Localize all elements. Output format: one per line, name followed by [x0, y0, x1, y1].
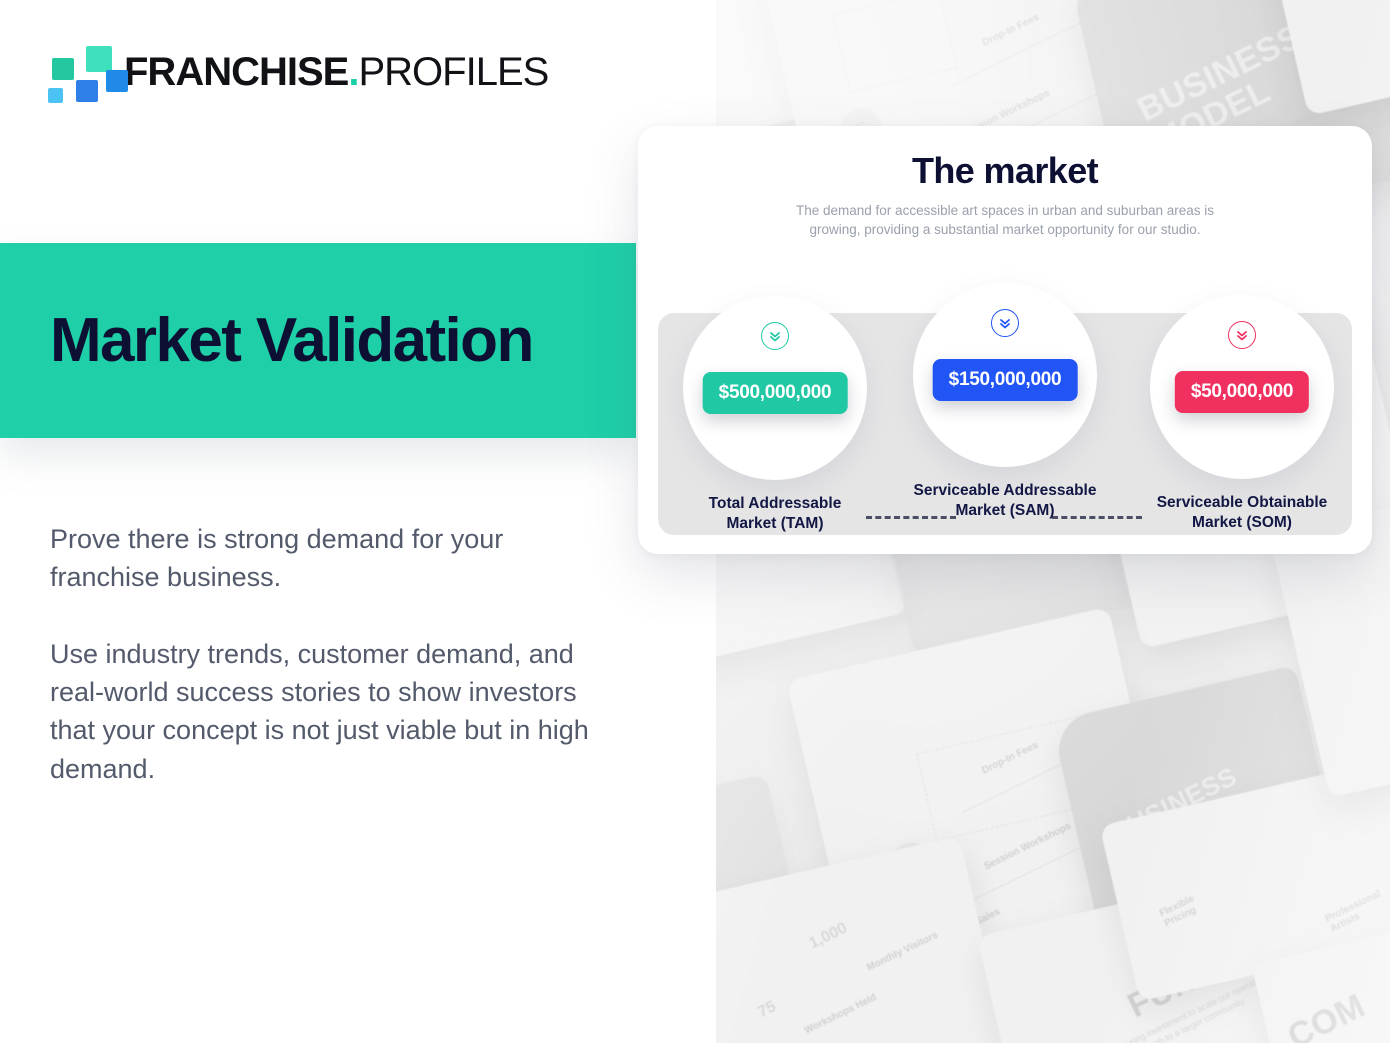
market-bubble-som: $50,000,000: [1150, 295, 1334, 479]
franchise-profiles-logo-icon: [46, 44, 108, 100]
double-chevron-down-icon: [991, 309, 1019, 337]
market-node-tam[interactable]: $500,000,000 Total Addressable Market (T…: [683, 296, 867, 534]
market-bubble-tam: $500,000,000: [683, 296, 867, 480]
brand-name-light: PROFILES: [358, 52, 548, 92]
market-caption-sam: Serviceable Addressable Market (SAM): [913, 481, 1097, 521]
brand-logo: FRANCHISE.PROFILES: [46, 44, 548, 100]
page-title-banner: Market Validation: [0, 243, 636, 438]
market-node-sam[interactable]: $150,000,000 Serviceable Addressable Mar…: [913, 283, 1097, 521]
market-caption-tam: Total Addressable Market (TAM): [683, 494, 867, 534]
body-copy: Prove there is strong demand for your fr…: [50, 520, 590, 788]
market-card-title: The market: [638, 150, 1372, 192]
market-nodes: $500,000,000 Total Addressable Market (T…: [638, 278, 1372, 548]
double-chevron-down-icon: [1228, 321, 1256, 349]
body-paragraph-1: Prove there is strong demand for your fr…: [50, 520, 590, 597]
double-chevron-down-icon: [761, 322, 789, 350]
page-title: Market Validation: [50, 310, 533, 372]
market-value-sam: $150,000,000: [933, 359, 1078, 401]
market-value-tam: $500,000,000: [703, 372, 848, 414]
body-paragraph-2: Use industry trends, customer demand, an…: [50, 635, 590, 788]
market-node-som[interactable]: $50,000,000 Serviceable Obtainable Marke…: [1150, 295, 1334, 533]
market-bubble-sam: $150,000,000: [913, 283, 1097, 467]
market-card: The market The demand for accessible art…: [638, 126, 1372, 554]
brand-name-dot: .: [348, 52, 358, 92]
market-value-som: $50,000,000: [1175, 371, 1309, 413]
market-caption-som: Serviceable Obtainable Market (SOM): [1150, 493, 1334, 533]
market-card-subtitle: The demand for accessible art spaces in …: [795, 202, 1215, 239]
brand-wordmark: FRANCHISE.PROFILES: [124, 52, 548, 92]
slide-canvas: Drop-In Fees Session Workshops S BUSINES…: [0, 0, 1390, 1043]
brand-name-bold: FRANCHISE: [124, 52, 348, 92]
